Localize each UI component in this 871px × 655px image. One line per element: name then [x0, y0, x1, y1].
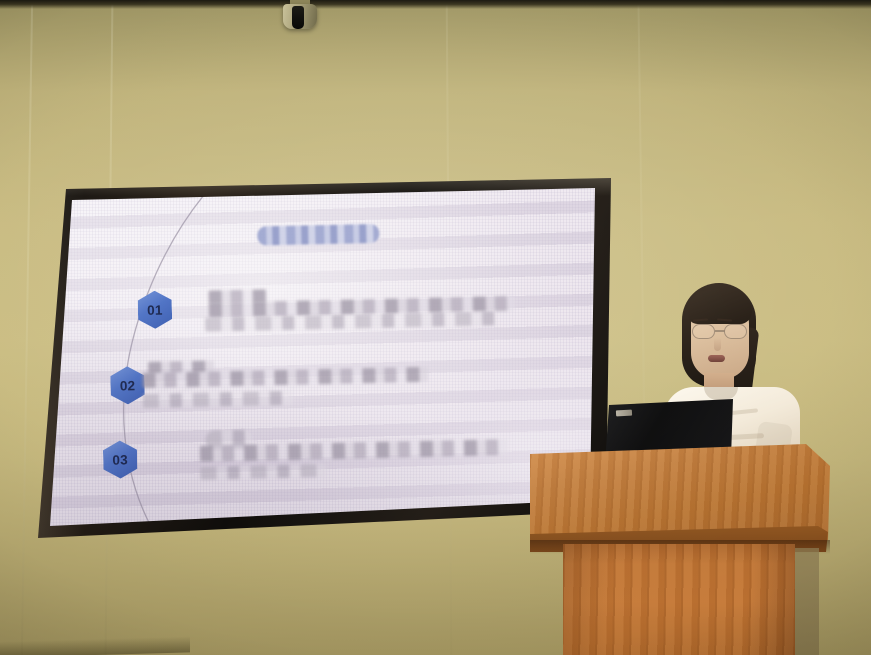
podium: [520, 440, 871, 655]
glasses-lens-right: [724, 324, 747, 339]
camera-lens: [292, 6, 304, 29]
ceiling-edge: [0, 0, 871, 9]
presenter-mouth: [708, 355, 725, 362]
ceiling-camera-icon: [281, 0, 319, 34]
podium-column-shading: [563, 544, 795, 655]
glasses-bridge: [715, 330, 725, 332]
laptop-brand-logo: [616, 410, 632, 417]
podium-side-panel: [795, 548, 819, 655]
glasses-lens-left: [692, 324, 715, 339]
presenter-nose: [714, 338, 721, 351]
presentation-room-photo: 01 02 03: [0, 0, 871, 655]
